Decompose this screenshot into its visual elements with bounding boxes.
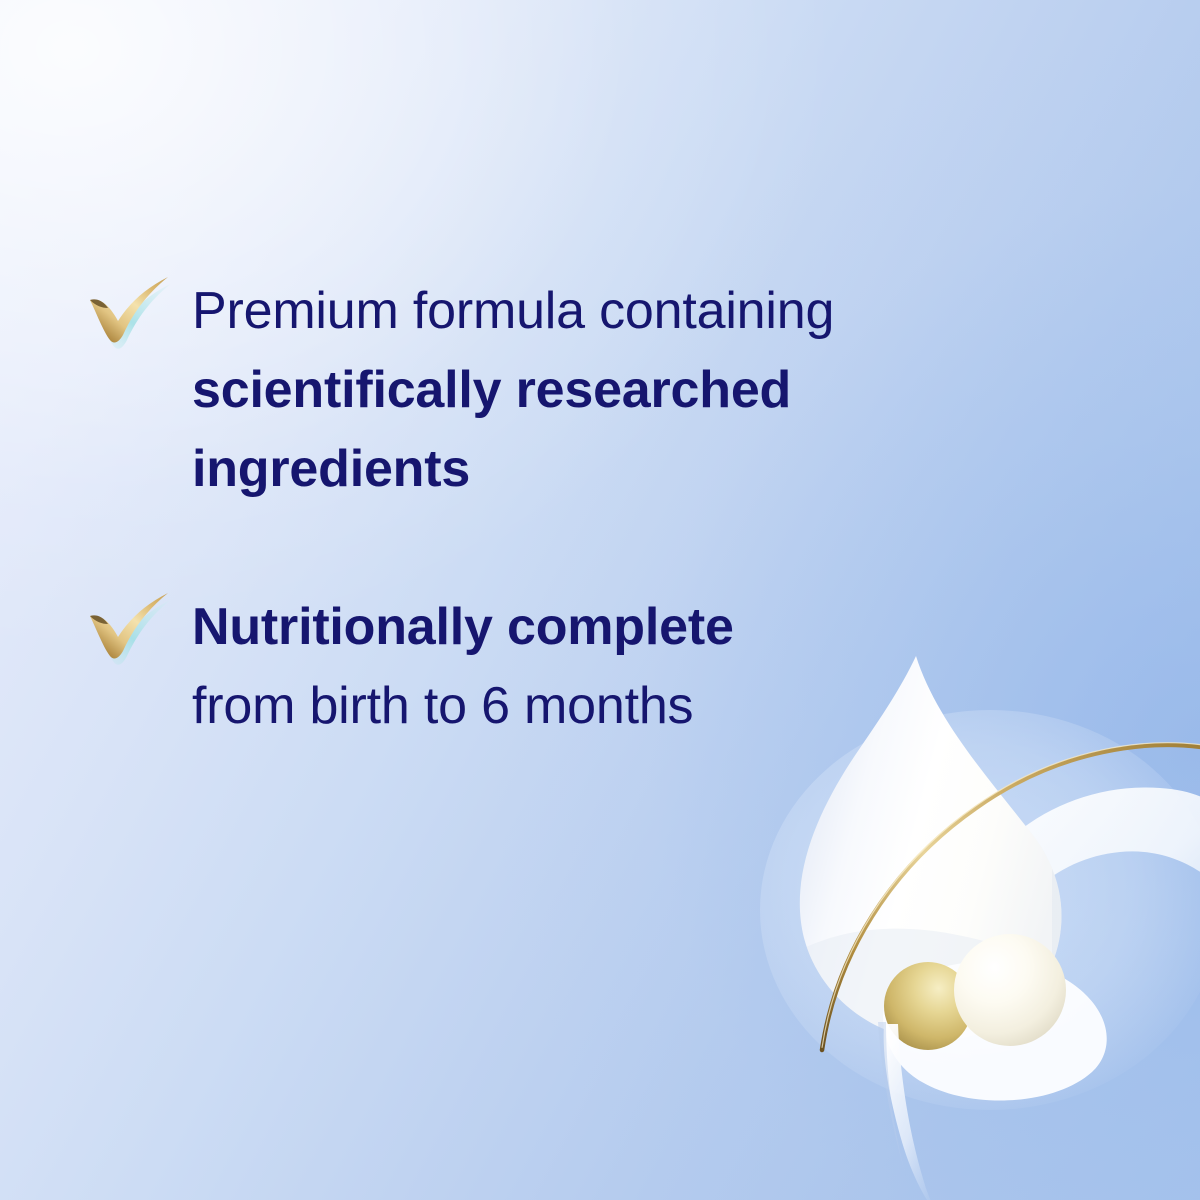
feature-bullet-item: Premium formula containing scientificall… bbox=[84, 272, 834, 509]
feature-panel: Premium formula containing scientificall… bbox=[0, 0, 1200, 1200]
feature-bullet-text: Premium formula containing scientificall… bbox=[192, 272, 834, 509]
feature-bullet-item: Nutritionally complete from birth to 6 m… bbox=[84, 588, 734, 746]
bullet-line: Nutritionally complete bbox=[192, 588, 734, 667]
bullet-line: scientifically researched bbox=[192, 351, 834, 430]
bullet-line: ingredients bbox=[192, 430, 834, 509]
bullet-line: Premium formula containing bbox=[192, 272, 834, 351]
feature-bullet-list: Premium formula containing scientificall… bbox=[0, 0, 1200, 1200]
feature-bullet-text: Nutritionally complete from birth to 6 m… bbox=[192, 588, 734, 746]
bullet-line: from birth to 6 months bbox=[192, 667, 734, 746]
gold-check-icon bbox=[86, 592, 178, 670]
gold-check-icon bbox=[86, 276, 178, 354]
